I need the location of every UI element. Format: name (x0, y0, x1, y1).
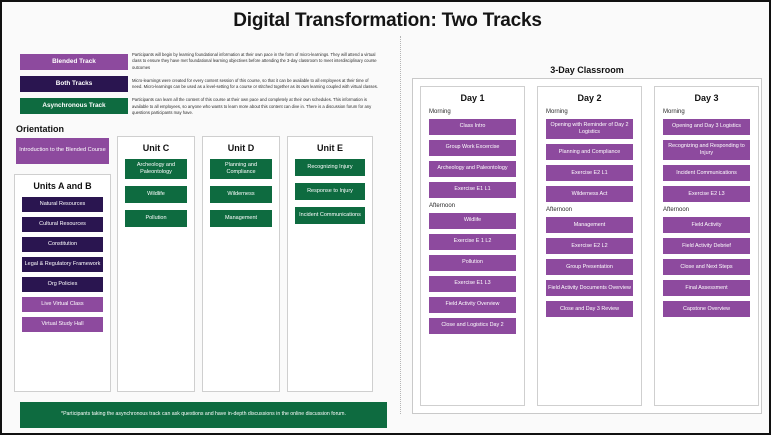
day-1-morning-item: Group Work Excercise (429, 140, 516, 156)
day-1-morning-label: Morning (429, 109, 524, 115)
unit-c-panel: Unit C Archeology and Paleontology Wildl… (117, 136, 195, 392)
day-2-afternoon-item: Exercise E2 L2 (546, 238, 633, 254)
day-2-afternoon-item: Field Activity Documents Overview (546, 280, 633, 296)
day-2-heading: Day 2 (538, 93, 641, 103)
legend-chip-both-tracks: Both Tracks (20, 76, 128, 92)
day-3-afternoon-item: Close and Next Steps (663, 259, 750, 275)
unit-d-item: Management (210, 210, 272, 227)
day-1-afternoon-item: Exercise E1 L3 (429, 276, 516, 292)
day-2-morning-item: Wilderness Act (546, 186, 633, 202)
day-2-afternoon-label: Afternoon (546, 207, 641, 213)
day-2-morning-item: Opening with Reminder of Day 2 Logistics (546, 119, 633, 139)
day-3-heading: Day 3 (655, 93, 758, 103)
unit-c-item: Wildlife (125, 186, 187, 203)
units-a-and-b-heading: Units A and B (15, 181, 110, 191)
unit-e-panel: Unit E Recognizing Injury Response to In… (287, 136, 373, 392)
unit-e-item: Recognizing Injury (295, 159, 365, 176)
unit-e-item: Incident Communications (295, 207, 365, 224)
day-3-afternoon-item: Field Activity Debrief (663, 238, 750, 254)
day-1-afternoon-item: Field Activity Overview (429, 297, 516, 313)
unit-ab-item: Constitution (22, 237, 103, 252)
unit-ab-item: Natural Resources (22, 197, 103, 212)
slide-canvas: Digital Transformation: Two Tracks Blend… (0, 0, 771, 435)
unit-d-heading: Unit D (203, 143, 279, 153)
day-3-morning-item: Recognizing and Responding to Injury (663, 140, 750, 160)
day-1-afternoon-item: Close and Logistics Day 2 (429, 318, 516, 334)
legend-description-asynchronous: Participants can learn all the content o… (132, 97, 380, 116)
day-3-panel: Day 3 Morning Opening and Day 3 Logistic… (654, 86, 759, 406)
day-3-morning-item: Opening and Day 3 Logistics (663, 119, 750, 135)
legend-chip-asynchronous-track: Asynchronous Track (20, 98, 128, 114)
unit-d-item: Wilderness (210, 186, 272, 203)
day-2-morning-label: Morning (546, 109, 641, 115)
unit-ab-item: Virtual Study Hall (22, 317, 103, 332)
day-1-afternoon-item: Wildlife (429, 213, 516, 229)
day-1-morning-item: Class Intro (429, 119, 516, 135)
day-2-morning-item: Exercise E2 L1 (546, 165, 633, 181)
classroom-heading: 3-Day Classroom (412, 65, 762, 75)
day-1-heading: Day 1 (421, 93, 524, 103)
footer-note-banner: *Participants taking the asynchronous tr… (20, 402, 387, 428)
legend-chip-blended-track: Blended Track (20, 54, 128, 70)
day-2-afternoon-item: Close and Day 3 Review (546, 301, 633, 317)
day-3-afternoon-item: Capstone Overview (663, 301, 750, 317)
unit-ab-item: Live Virtual Class (22, 297, 103, 312)
unit-ab-item: Cultural Resources (22, 217, 103, 232)
day-1-afternoon-item: Exercise E 1 L2 (429, 234, 516, 250)
unit-c-heading: Unit C (118, 143, 194, 153)
unit-c-item: Archeology and Paleontology (125, 159, 187, 179)
unit-d-panel: Unit D Planning and Compliance Wildernes… (202, 136, 280, 392)
day-2-afternoon-item: Group Presentation (546, 259, 633, 275)
unit-ab-item: Legal & Regulatory Framework (22, 257, 103, 272)
day-1-panel: Day 1 Morning Class Intro Group Work Exc… (420, 86, 525, 406)
day-3-morning-item: Exercise E2 L3 (663, 186, 750, 202)
day-1-afternoon-item: Pollution (429, 255, 516, 271)
day-3-afternoon-item: Field Activity (663, 217, 750, 233)
unit-e-heading: Unit E (288, 143, 372, 153)
day-1-morning-item: Exercise E1 L1 (429, 182, 516, 198)
day-3-morning-label: Morning (663, 109, 758, 115)
day-1-afternoon-label: Afternoon (429, 203, 524, 209)
unit-e-item: Response to Injury (295, 183, 365, 200)
track-legend: Blended Track Both Tracks Asynchronous T… (20, 54, 128, 120)
unit-ab-item: Org Policies (22, 277, 103, 292)
day-2-afternoon-item: Management (546, 217, 633, 233)
day-2-panel: Day 2 Morning Opening with Reminder of D… (537, 86, 642, 406)
legend-description-blended: Participants will begin by learning foun… (132, 52, 380, 71)
day-2-morning-item: Planning and Compliance (546, 144, 633, 160)
unit-c-item: Pollution (125, 210, 187, 227)
unit-d-item: Planning and Compliance (210, 159, 272, 179)
day-1-morning-item: Archeology and Paleontology (429, 161, 516, 177)
units-a-and-b-panel: Units A and B Natural Resources Cultural… (14, 174, 111, 392)
orientation-course-box: Introduction to the Blended Course (16, 138, 109, 164)
orientation-heading: Orientation (16, 124, 64, 134)
section-divider (400, 36, 401, 414)
day-3-afternoon-label: Afternoon (663, 207, 758, 213)
day-3-afternoon-item: Final Assessment (663, 280, 750, 296)
legend-descriptions: Participants will begin by learning foun… (132, 52, 380, 123)
page-title: Digital Transformation: Two Tracks (2, 10, 771, 32)
legend-description-both: Micro-learnings were created for every c… (132, 78, 380, 91)
day-3-morning-item: Incident Communications (663, 165, 750, 181)
